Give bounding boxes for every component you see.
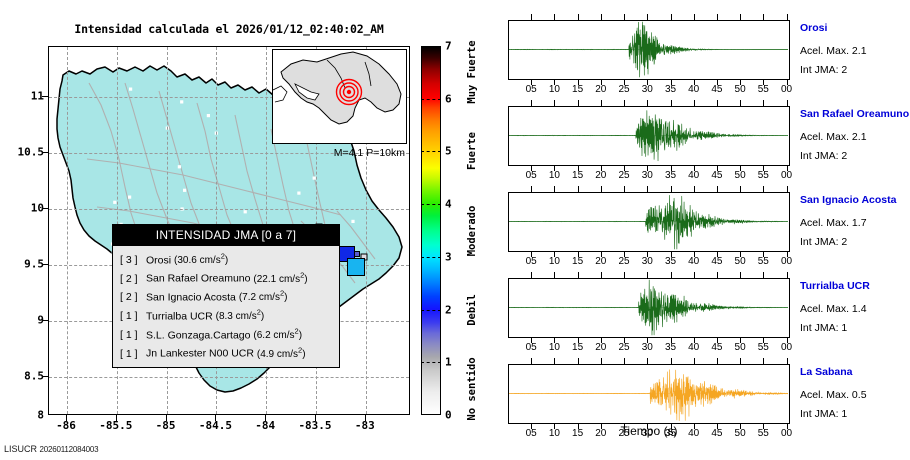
legend-station-name: San Rafael Oreamuno [146, 273, 253, 285]
seismogram-waveform [509, 365, 788, 422]
legend-station-name: S.L. Gonzaga.Cartago [146, 329, 253, 341]
y-axis-label: 10.5 [0, 146, 44, 159]
town-dot [297, 192, 300, 195]
seismogram-station-name[interactable]: San Ignacio Acosta [800, 194, 896, 206]
town-dot [178, 165, 181, 168]
colorbar-tick [421, 204, 441, 205]
seismogram-acel-max: Acel. Max. 2.1 [800, 45, 867, 57]
colorbar-tick-label: 6 [445, 92, 452, 105]
seismogram-station-name[interactable]: Orosi [800, 22, 827, 34]
legend-rows: [ 3 ]Orosi (30.6 cm/s2)[ 2 ]San Rafael O… [113, 246, 339, 367]
legend-intensity-level: [ 1 ] [120, 328, 146, 342]
seismogram-trace-box[interactable] [508, 106, 790, 166]
legend-title: INTENSIDAD JMA [0 a 7] [113, 225, 339, 246]
legend-station-name: San Ignacio Acosta [146, 291, 239, 303]
watermark-code: 20260112084003 [40, 445, 99, 454]
seismogram-trace-box[interactable] [508, 20, 790, 80]
seismogram-tick-label: 00 [772, 256, 802, 267]
seismogram-trace-box[interactable] [508, 278, 790, 338]
legend-intensity-level: [ 1 ] [120, 309, 146, 323]
map-figure: Intensidad calculada el 2026/01/12_02:40… [0, 0, 500, 460]
town-dot [105, 274, 108, 277]
seismogram-acel-max: Acel. Max. 2.1 [800, 131, 867, 143]
seismogram-tick-label: 00 [772, 84, 802, 95]
map-gridline-h [49, 209, 409, 210]
legend-row: [ 1 ]Jn Lankester N00 UCR (4.9 cm/s2) [120, 343, 333, 362]
inset-map-svg [273, 50, 405, 142]
legend-acceleration: (8.3 cm/s2) [216, 311, 265, 322]
seismogram-int-jma: Int JMA: 1 [800, 322, 847, 334]
seismogram-waveform [509, 193, 788, 250]
epicenter-icon [337, 80, 362, 105]
colorbar-tick [421, 151, 441, 152]
town-dot [183, 189, 186, 192]
seismogram-waveform [509, 107, 788, 164]
legend-station-name: Jn Lankester N00 UCR [146, 348, 257, 360]
seismogram-int-jma: Int JMA: 2 [800, 150, 847, 162]
colorbar-tick-label: 4 [445, 198, 452, 211]
colorbar-tick-label: 7 [445, 40, 452, 53]
legend-row: [ 2 ]San Rafael Oreamuno (22.1 cm/s2) [120, 268, 333, 287]
seismogram-row: 051015202530354045505500San Ignacio Acos… [500, 192, 910, 278]
colorbar-category-label: Muy Fuerte [466, 41, 478, 104]
legend-acceleration: (4.9 cm/s2) [257, 349, 306, 360]
seismogram-row: 051015202530354045505500Turrialba UCRAce… [500, 278, 910, 364]
watermark-prefix: LISUCR [4, 444, 37, 454]
legend-station-name: Turrialba UCR [146, 310, 216, 322]
map-gridline-v [67, 47, 68, 414]
colorbar-tick [421, 99, 441, 100]
legend-row: [ 3 ]Orosi (30.6 cm/s2) [120, 250, 333, 269]
colorbar-tick-label: 2 [445, 303, 452, 316]
seismogram-row: 051015202530354045505500OrosiAcel. Max. … [500, 20, 910, 106]
map-gridline-h [49, 377, 409, 378]
legend-acceleration: (22.1 cm/s2) [253, 274, 307, 285]
intensity-map-plot[interactable]: M=4.1 P=10km INTENSIDAD JMA [0 a 7] [ 3 … [48, 46, 410, 415]
event-magnitude-depth-label: M=4.1 P=10km [334, 147, 405, 159]
colorbar-category-label: Debil [466, 294, 478, 326]
colorbar-tick-label: 1 [445, 356, 452, 369]
town-dot [351, 220, 354, 223]
station-intensity-marker[interactable] [347, 258, 365, 276]
legend-intensity-level: [ 3 ] [120, 253, 146, 267]
y-axis-label: 10 [0, 202, 44, 215]
colorbar-tick [421, 257, 441, 258]
seismogram-tick-label: 00 [772, 170, 802, 181]
watermark: LISUCR 20260112084003 [4, 444, 98, 454]
seismogram-int-jma: Int JMA: 2 [800, 64, 847, 76]
legend-row: [ 2 ]San Ignacio Acosta (7.2 cm/s2) [120, 287, 333, 306]
town-dot [98, 333, 101, 336]
colorbar-category-label: Fuerte [466, 132, 478, 170]
y-axis-label: 8.5 [0, 369, 44, 382]
town-dot [93, 301, 96, 304]
seismogram-waveform [509, 279, 788, 336]
colorbar-tick [421, 310, 441, 311]
town-dot [129, 88, 132, 91]
seismogram-int-jma: Int JMA: 2 [800, 236, 847, 248]
legend-station-name: Orosi [146, 254, 174, 266]
colorbar-tick-label: 3 [445, 250, 452, 263]
intensity-legend[interactable]: INTENSIDAD JMA [0 a 7] [ 3 ]Orosi (30.6 … [112, 224, 340, 368]
seismogram-station-name[interactable]: San Rafael Oreamuno [800, 108, 909, 120]
seismogram-waveform [509, 21, 788, 78]
town-dot [244, 210, 247, 213]
y-axis-label: 9.5 [0, 257, 44, 270]
locator-inset-map[interactable] [272, 49, 407, 144]
town-dot [207, 114, 210, 117]
seismogram-row: 051015202530354045505500San Rafael Oream… [500, 106, 910, 192]
time-axis-label: Tiempo (s) [508, 424, 790, 438]
colorbar-gradient [421, 46, 441, 415]
seismogram-int-jma: Int JMA: 1 [800, 408, 847, 420]
seismogram-station-name[interactable]: Turrialba UCR [800, 280, 870, 292]
colorbar-tick [421, 362, 441, 363]
seismogram-acel-max: Acel. Max. 1.4 [800, 303, 867, 315]
town-dot [128, 196, 131, 199]
colorbar-tick-label: 0 [445, 409, 452, 422]
x-axis-label: -83 [335, 419, 395, 432]
colorbar-category-label: No sentido [466, 357, 478, 420]
legend-intensity-level: [ 1 ] [120, 347, 146, 361]
legend-intensity-level: [ 2 ] [120, 290, 146, 304]
seismogram-tick-label: 00 [772, 342, 802, 353]
legend-row: [ 1 ]S.L. Gonzaga.Cartago (6.2 cm/s2) [120, 325, 333, 344]
y-axis-label: 9 [0, 313, 44, 326]
legend-acceleration: (6.2 cm/s2) [253, 330, 302, 341]
intensity-colorbar[interactable] [421, 46, 441, 415]
town-dot [180, 100, 183, 103]
seismogram-station-name[interactable]: La Sabana [800, 366, 853, 378]
colorbar-tick-label: 5 [445, 145, 452, 158]
page-title: Intensidad calculada el 2026/01/12_02:40… [48, 22, 410, 36]
legend-acceleration: (30.6 cm/s2) [174, 255, 228, 266]
legend-intensity-level: [ 2 ] [120, 272, 146, 286]
seismogram-trace-box[interactable] [508, 364, 790, 424]
seismogram-acel-max: Acel. Max. 1.7 [800, 217, 867, 229]
seismogram-trace-box[interactable] [508, 192, 790, 252]
legend-acceleration: (7.2 cm/s2) [239, 292, 288, 303]
y-axis-label: 11 [0, 90, 44, 103]
legend-row: [ 1 ]Turrialba UCR (8.3 cm/s2) [120, 306, 333, 325]
colorbar-category-label: Moderado [466, 205, 478, 256]
seismogram-acel-max: Acel. Max. 0.5 [800, 389, 867, 401]
seismogram-panels: 051015202530354045505500OrosiAcel. Max. … [500, 0, 910, 460]
